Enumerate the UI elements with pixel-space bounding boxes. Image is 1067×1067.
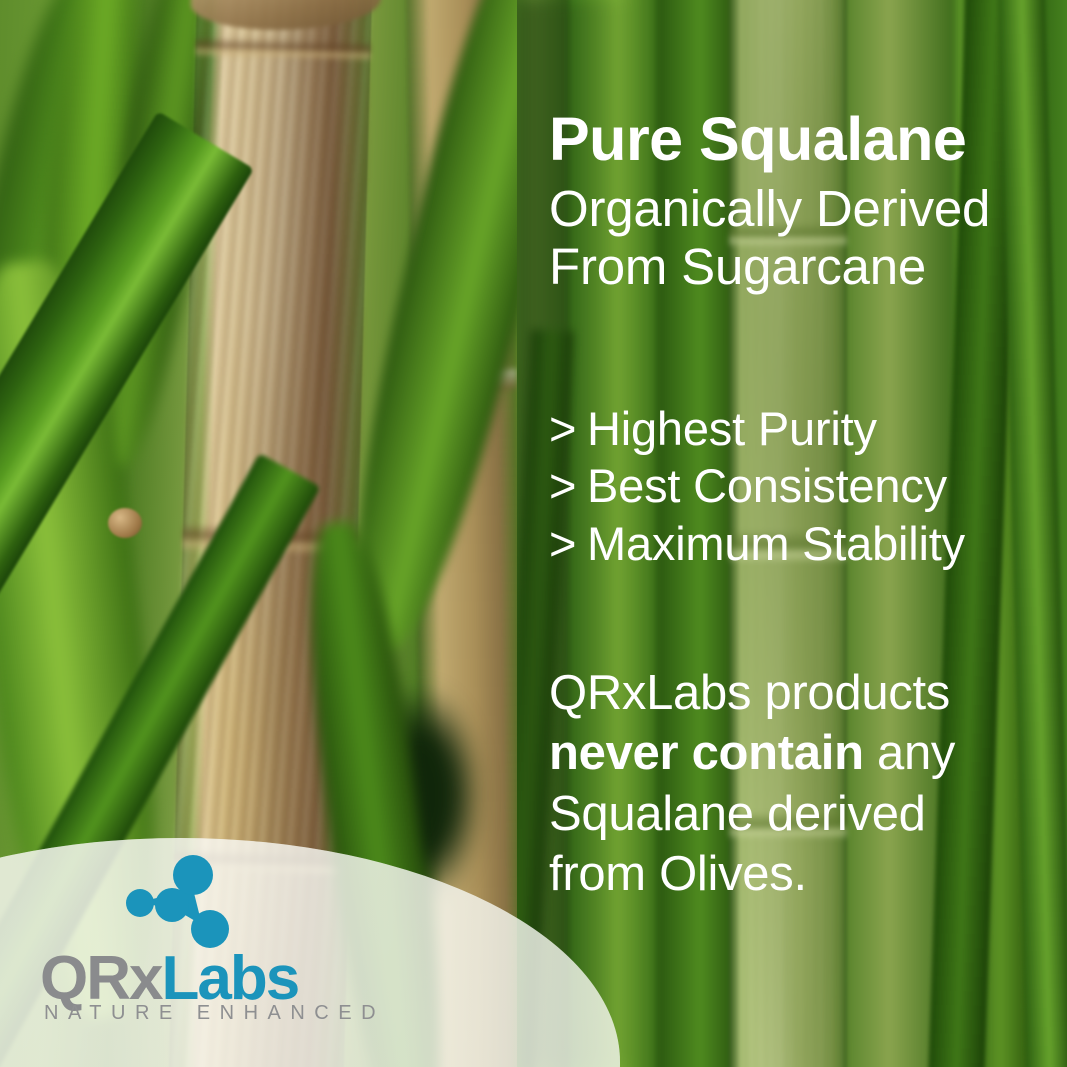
- claim-emphasis: never contain: [549, 726, 864, 780]
- product-subtitle: Organically Derived From Sugarcane: [549, 180, 1049, 296]
- cane-node: [195, 36, 371, 63]
- chevron-right-icon: >: [549, 400, 587, 457]
- benefit-item: >Maximum Stability: [549, 515, 1049, 572]
- subtitle-line-2: From Sugarcane: [549, 238, 1049, 296]
- subtitle-line-1: Organically Derived: [549, 180, 1049, 238]
- molecule-icon: [120, 855, 250, 955]
- marketing-copy: Pure Squalane Organically Derived From S…: [549, 0, 1049, 1067]
- chevron-right-icon: >: [549, 457, 587, 514]
- brand-wordmark: QRxLabs: [40, 948, 370, 1010]
- benefit-list: >Highest Purity >Best Consistency >Maxim…: [549, 400, 1049, 572]
- page-title: Pure Squalane: [549, 108, 966, 171]
- benefit-label: Best Consistency: [587, 459, 947, 512]
- cane-bud: [108, 508, 142, 538]
- chevron-right-icon: >: [549, 515, 587, 572]
- brand-logo: QRxLabs: [0, 855, 400, 1055]
- benefit-item: >Best Consistency: [549, 457, 1049, 514]
- product-poster: Pure Squalane Organically Derived From S…: [0, 0, 1067, 1067]
- brand-tagline: NATURE ENHANCED: [44, 1002, 385, 1025]
- benefit-item: >Highest Purity: [549, 400, 1049, 457]
- claim-part-1: QRxLabs products: [549, 666, 950, 720]
- benefit-label: Maximum Stability: [587, 517, 965, 570]
- benefit-label: Highest Purity: [587, 402, 877, 455]
